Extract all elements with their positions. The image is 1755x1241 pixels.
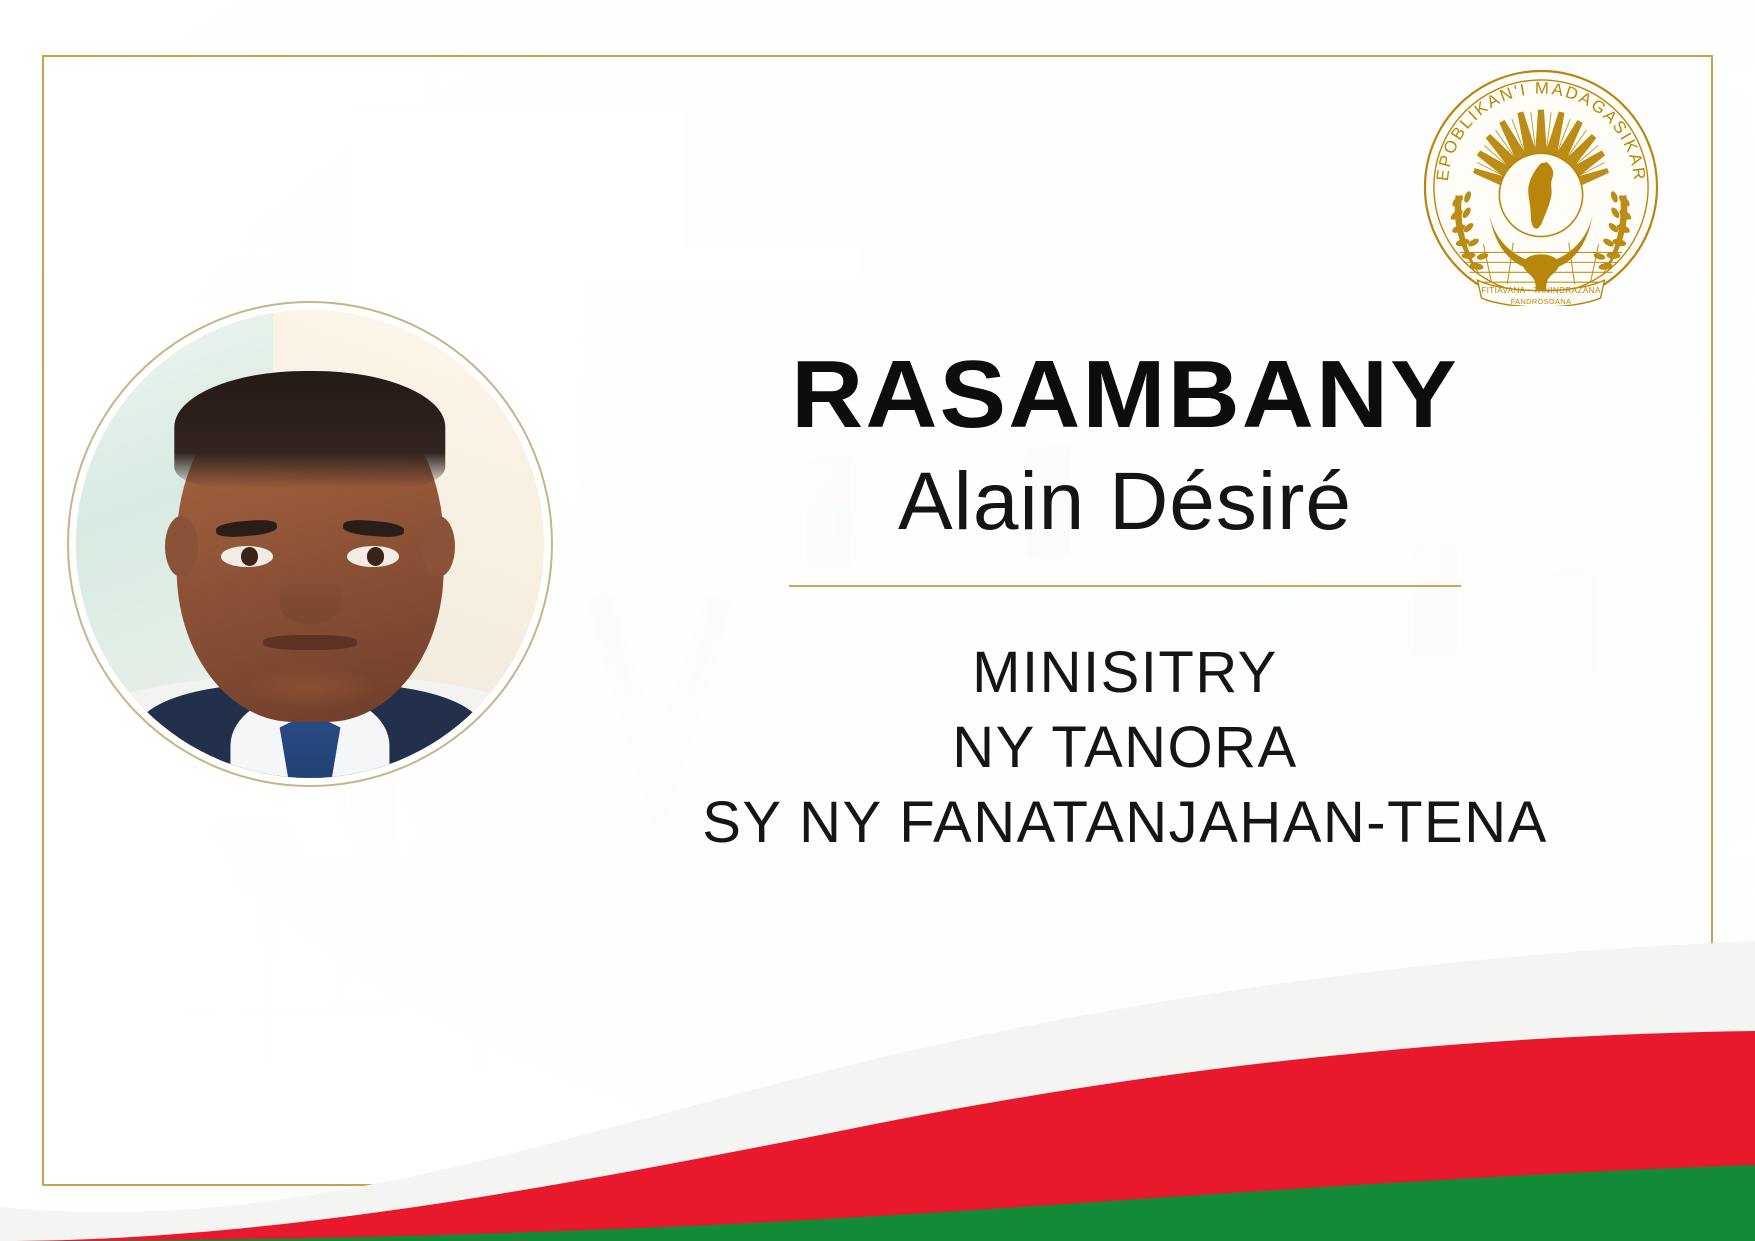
- madagascar-emblem-icon: FITIAVANA - TANINDRAZANA FANDROSOANA REP…: [1422, 68, 1660, 306]
- portrait-nose: [280, 577, 341, 624]
- portrait-card: FITIAVANA - TANINDRAZANA FANDROSOANA REP…: [0, 0, 1755, 1241]
- portrait-eye-right: [347, 546, 398, 567]
- portrait-ear-right: [422, 516, 455, 577]
- ministry-line-1: MINISITRY: [560, 635, 1690, 710]
- portrait-ear-left: [165, 516, 198, 577]
- ministry-title: MINISITRY NY TANORA SY NY FANATANJAHAN-T…: [560, 635, 1690, 861]
- portrait-chin: [240, 666, 380, 708]
- portrait-hair: [174, 371, 445, 488]
- emblem-motto-line2: FANDROSOANA: [1511, 297, 1572, 306]
- person-surname: RASAMBANY: [537, 346, 1712, 444]
- ministry-line-3: SY NY FANATANJAHAN-TENA: [560, 785, 1690, 860]
- flag-wave-decoration: [0, 911, 1755, 1241]
- name-and-title-block: RASAMBANY Alain Désiré MINISITRY NY TANO…: [560, 346, 1690, 861]
- portrait-mouth: [263, 635, 357, 650]
- minister-portrait-avatar: [76, 310, 544, 778]
- person-given-name: Alain Désiré: [560, 454, 1690, 551]
- emblem-motto-line1: FITIAVANA - TANINDRAZANA: [1481, 286, 1601, 295]
- gold-divider-line: [789, 585, 1461, 587]
- portrait-eye-left: [221, 546, 272, 567]
- ministry-line-2: NY TANORA: [560, 710, 1690, 785]
- portrait-image: [76, 310, 544, 778]
